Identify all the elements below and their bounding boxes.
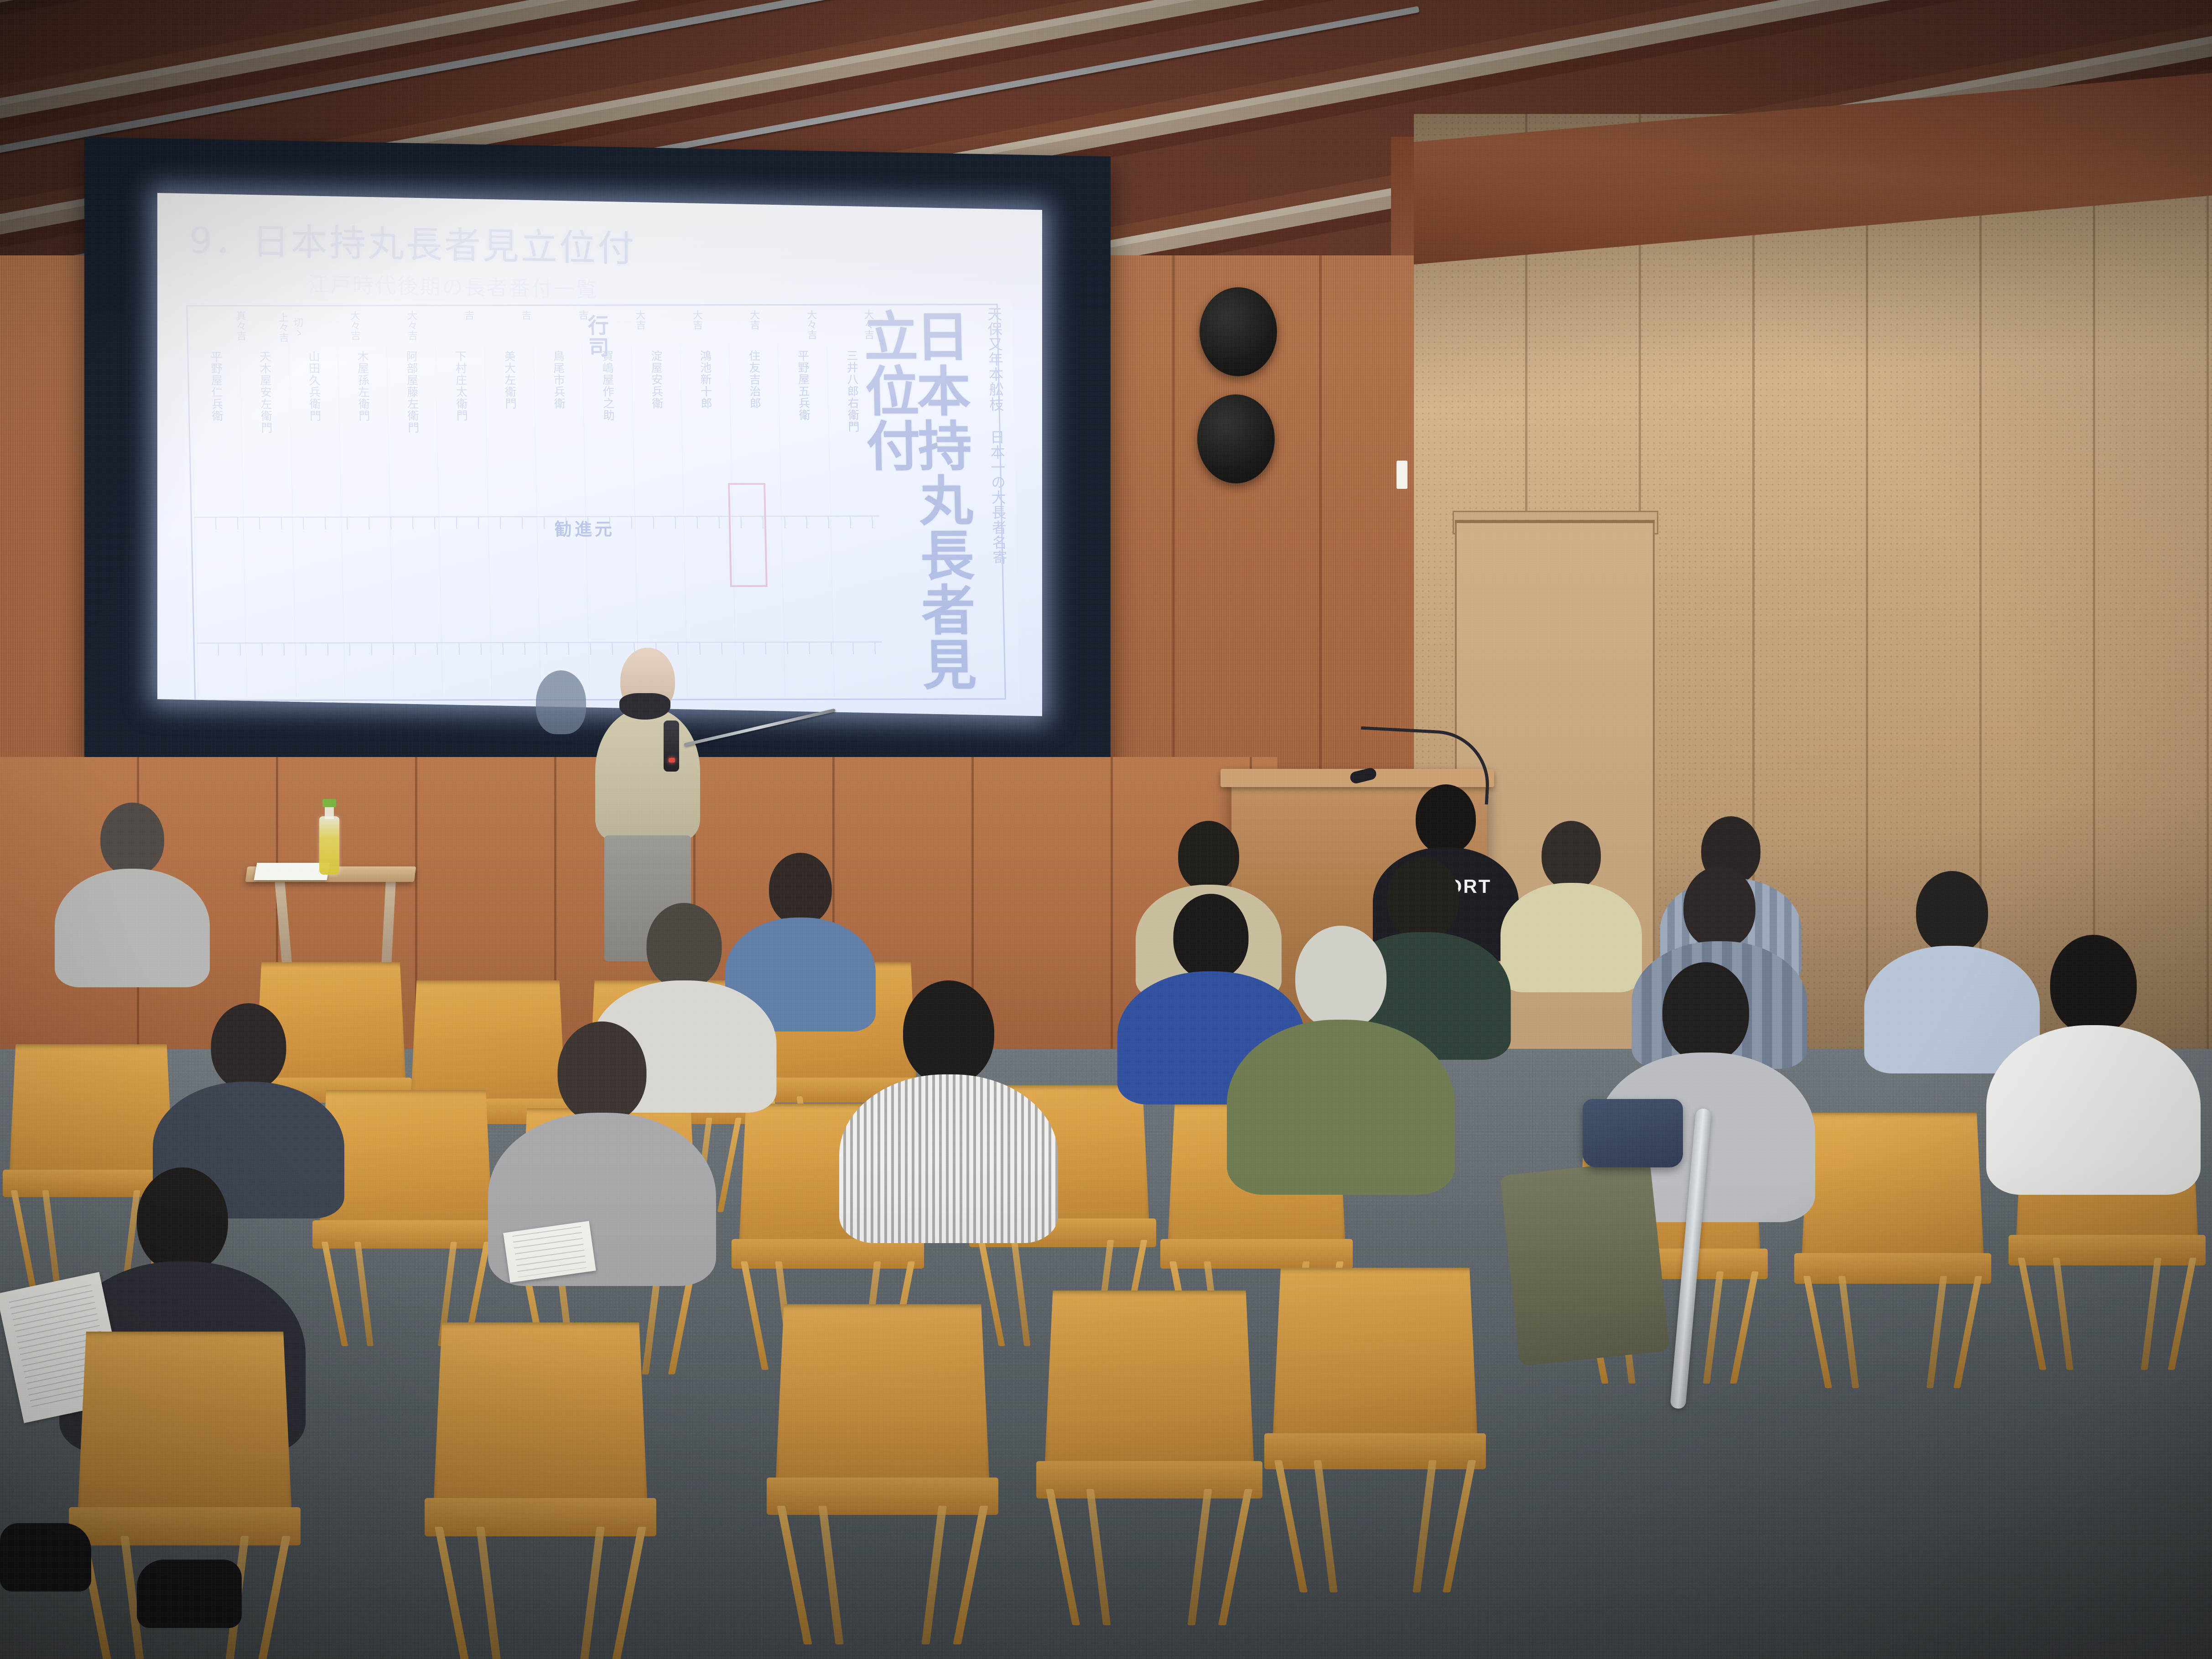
wall-speaker-upper	[1199, 287, 1277, 376]
slide-title: 9．日本持丸長者見立位付	[189, 211, 636, 272]
attendee-head	[903, 980, 994, 1084]
banzuke-name: 平野屋五兵衛	[797, 350, 810, 421]
attendee-head	[1542, 821, 1601, 889]
bottle-cap-icon[interactable]	[322, 799, 336, 807]
shoulder-bag[interactable]	[1583, 1099, 1683, 1167]
banzuke-kanjimoto-label: 勧進元	[554, 515, 615, 540]
rank-header: 真々吉	[190, 311, 248, 341]
banzuke-name: 阿部屋藤左衛門	[405, 350, 419, 433]
rank-header: 切ゝ上々吉	[247, 311, 305, 344]
wall-speaker-lower	[1197, 394, 1275, 483]
attendee-head	[137, 1167, 228, 1272]
foreground-chair[interactable]	[433, 1322, 648, 1642]
rank-header: 大々吉	[361, 310, 419, 340]
attendee-front-white-tee	[1984, 935, 2203, 1181]
attendee-head	[100, 803, 164, 876]
lecture-hall-photo: 9．日本持丸長者見立位付 江戸時代後期の長者番付一覧 大々吉 大々吉 大吉 大吉…	[0, 0, 2212, 1659]
empty-chair[interactable]	[1802, 1113, 1984, 1368]
banzuke-highlight-box	[728, 483, 768, 587]
foreground-chair[interactable]	[1044, 1291, 1254, 1601]
rank-header: 吉	[475, 310, 533, 320]
slide-subtitle: 江戸時代後期の長者番付一覧	[308, 268, 598, 303]
green-tea-bottle[interactable]	[319, 816, 339, 875]
rank-header: 大々吉	[761, 310, 819, 340]
projection-screen-surface: 9．日本持丸長者見立位付 江戸時代後期の長者番付一覧 大々吉 大々吉 大吉 大吉…	[157, 193, 1042, 716]
foreground-shoe-left	[137, 1560, 242, 1628]
banzuke-name: 平野屋仁兵衛	[210, 351, 223, 422]
banzuke-name: 下村庄太衛門	[454, 350, 467, 421]
rank-header: 大吉	[704, 310, 761, 330]
attendee-head	[1683, 866, 1755, 949]
banzuke-name: 天木屋安左衛門	[259, 351, 272, 434]
attendee-head	[1416, 784, 1476, 854]
banzuke-name: 山田久兵衛門	[307, 351, 321, 422]
banzuke-rank-header-row: 大々吉 大々吉 大吉 大吉 大吉 吉 吉 吉 大々吉 大々吉 切ゝ上々吉 真々吉	[190, 310, 875, 345]
banzuke-name: 住友吉治郎	[748, 350, 761, 409]
attendee-head	[1662, 962, 1749, 1062]
foreground-chair[interactable]	[1272, 1268, 1478, 1569]
attendee-head	[647, 903, 722, 989]
foreground-shoe-right	[0, 1523, 91, 1592]
attendee-torso	[1986, 1025, 2201, 1195]
rank-header: 吉	[418, 310, 476, 320]
rank-header: 大々吉	[304, 311, 362, 341]
attendee-head	[2050, 935, 2137, 1034]
banzuke-ticks-2	[197, 643, 882, 656]
attendee-front-striped	[835, 980, 1063, 1227]
foreground-chair[interactable]	[775, 1304, 990, 1619]
banzuke-name: 鴻池新十郎	[699, 350, 711, 409]
rank-header: 大吉	[646, 310, 704, 330]
attendee-torso	[839, 1074, 1058, 1243]
presenter-face-mask	[619, 693, 670, 720]
attendee-trousers-olive	[1500, 1160, 1670, 1366]
banzuke-name: 賀嶋屋作之助	[601, 350, 614, 421]
attendee-front-olive	[1222, 926, 1459, 1181]
attendee-torso	[1227, 1020, 1455, 1195]
attendee-head	[1916, 871, 1988, 953]
shadow-person-on-screen	[536, 670, 586, 734]
attendee-head	[211, 1003, 286, 1090]
attendee-head	[1295, 926, 1386, 1030]
banzuke-name: 淀屋安兵衛	[650, 350, 663, 409]
attendee-back-lightgrey	[50, 803, 214, 985]
attendee-head	[1178, 821, 1239, 891]
emergency-switch-icon[interactable]	[1397, 461, 1407, 489]
banzuke-vertical-title: 日本持丸長者見立位付	[860, 308, 972, 702]
banzuke-ticks-1	[194, 517, 879, 530]
presenter-mic-led-icon	[669, 758, 675, 762]
presenter-handheld-microphone[interactable]	[664, 721, 679, 772]
table-handout-paper[interactable]	[254, 863, 330, 880]
attendee-head	[558, 1021, 647, 1123]
presenter-torso	[595, 708, 700, 840]
banzuke-name: 鳥尾市兵衛	[552, 350, 565, 410]
banzuke-name: 美大左衛門	[503, 350, 516, 410]
banzuke-name: 木屋孫左衛門	[356, 351, 369, 422]
banzuke-document-image: 大々吉 大々吉 大吉 大吉 大吉 吉 吉 吉 大々吉 大々吉 切ゝ上々吉 真々吉…	[182, 300, 1020, 703]
attendee-torso	[55, 869, 210, 987]
rank-header: 吉	[532, 310, 590, 320]
